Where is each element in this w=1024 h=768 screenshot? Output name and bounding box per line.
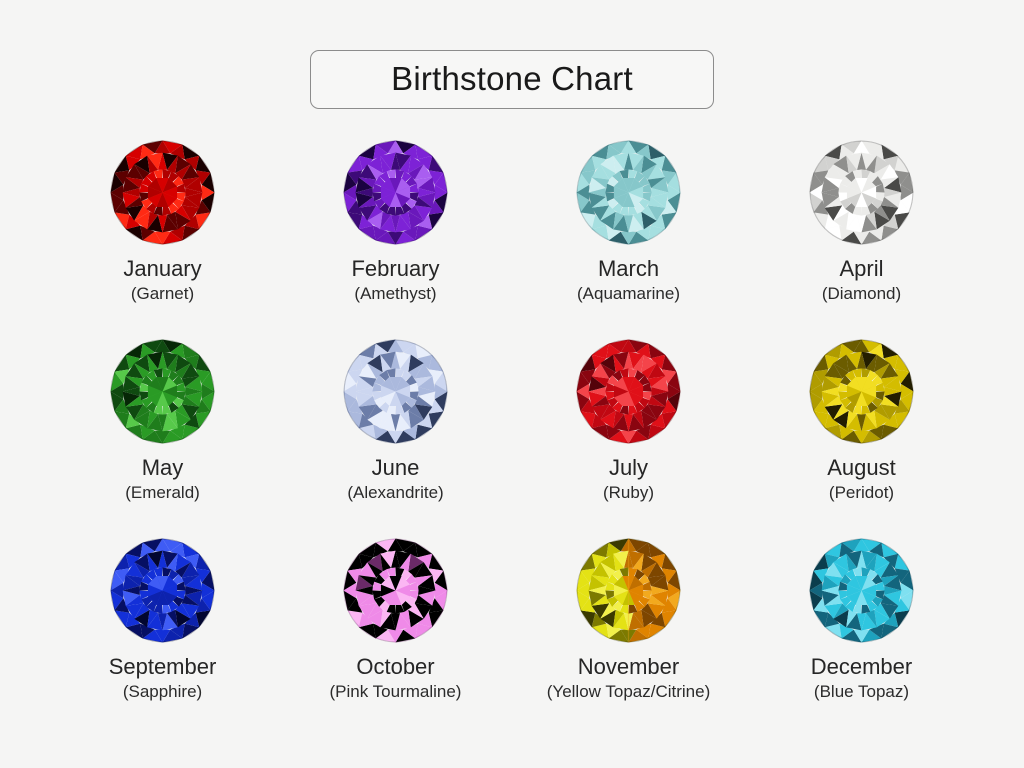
- month-label: June: [372, 456, 420, 479]
- birthstone-grid: January(Garnet)February(Amethyst)March(A…: [46, 140, 978, 737]
- birthstone-cell-february: February(Amethyst): [279, 140, 512, 339]
- stone-label: (Alexandrite): [347, 484, 443, 502]
- birthstone-cell-december: December(Blue Topaz): [745, 538, 978, 737]
- gemstone-icon-aquamarine: [576, 140, 681, 245]
- month-label: November: [578, 655, 679, 678]
- birthstone-cell-march: March(Aquamarine): [512, 140, 745, 339]
- title-box: Birthstone Chart: [310, 50, 714, 109]
- stone-label: (Pink Tourmaline): [330, 683, 462, 701]
- birthstone-cell-september: September(Sapphire): [46, 538, 279, 737]
- birthstone-cell-november: November(Yellow Topaz/Citrine): [512, 538, 745, 737]
- month-label: July: [609, 456, 648, 479]
- month-label: February: [351, 257, 439, 280]
- gemstone-icon-garnet: [110, 140, 215, 245]
- month-label: December: [811, 655, 912, 678]
- month-label: April: [839, 257, 883, 280]
- birthstone-cell-august: August(Peridot): [745, 339, 978, 538]
- gemstone-icon-emerald: [110, 339, 215, 444]
- month-label: September: [109, 655, 217, 678]
- month-label: March: [598, 257, 659, 280]
- title-container: Birthstone Chart: [0, 50, 1024, 109]
- gemstone-icon-alexandrite: [343, 339, 448, 444]
- gemstone-icon-pink-tourmaline: [343, 538, 448, 643]
- gemstone-icon-blue-topaz: [809, 538, 914, 643]
- birthstone-cell-may: May(Emerald): [46, 339, 279, 538]
- birthstone-chart-page: Birthstone Chart January(Garnet)February…: [0, 0, 1024, 768]
- stone-label: (Yellow Topaz/Citrine): [547, 683, 710, 701]
- page-title: Birthstone Chart: [351, 62, 673, 95]
- gemstone-icon-ruby: [576, 339, 681, 444]
- stone-label: (Emerald): [125, 484, 200, 502]
- stone-label: (Ruby): [603, 484, 654, 502]
- stone-label: (Diamond): [822, 285, 901, 303]
- stone-label: (Sapphire): [123, 683, 202, 701]
- month-label: January: [123, 257, 201, 280]
- stone-label: (Peridot): [829, 484, 894, 502]
- birthstone-cell-january: January(Garnet): [46, 140, 279, 339]
- stone-label: (Blue Topaz): [814, 683, 909, 701]
- gemstone-icon-peridot: [809, 339, 914, 444]
- gemstone-icon-sapphire: [110, 538, 215, 643]
- month-label: May: [142, 456, 184, 479]
- stone-label: (Amethyst): [354, 285, 436, 303]
- birthstone-cell-june: June(Alexandrite): [279, 339, 512, 538]
- birthstone-cell-october: October(Pink Tourmaline): [279, 538, 512, 737]
- stone-label: (Aquamarine): [577, 285, 680, 303]
- gemstone-icon-amethyst: [343, 140, 448, 245]
- month-label: October: [356, 655, 434, 678]
- gemstone-icon-diamond: [809, 140, 914, 245]
- gemstone-icon-yellow-topaz-citrine: [576, 538, 681, 643]
- birthstone-cell-july: July(Ruby): [512, 339, 745, 538]
- birthstone-cell-april: April(Diamond): [745, 140, 978, 339]
- month-label: August: [827, 456, 896, 479]
- stone-label: (Garnet): [131, 285, 194, 303]
